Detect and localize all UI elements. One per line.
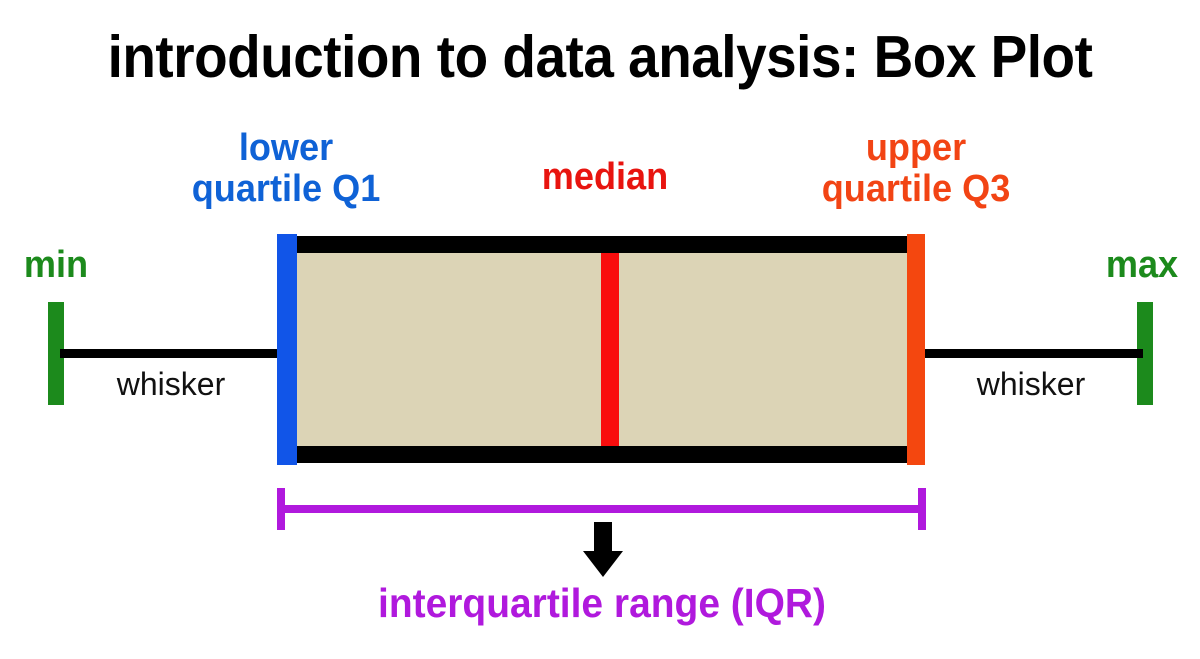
whisker-line-left bbox=[60, 349, 288, 358]
box bbox=[277, 236, 925, 463]
median-bar bbox=[601, 253, 619, 446]
page-title: introduction to data analysis: Box Plot bbox=[42, 26, 1158, 88]
arrow-shaft bbox=[594, 522, 612, 554]
label-whisker-right: whisker bbox=[946, 366, 1116, 402]
label-lower-quartile: lower quartile Q1 bbox=[138, 128, 434, 210]
label-max: max bbox=[1089, 245, 1195, 286]
iqr-bracket-cap-left bbox=[277, 488, 285, 530]
arrow-head bbox=[583, 551, 623, 577]
iqr-bracket-cap-right bbox=[918, 488, 926, 530]
iqr-bracket-line bbox=[277, 505, 926, 513]
label-upper-quartile: upper quartile Q3 bbox=[768, 128, 1064, 210]
label-iqr: interquartile range (IQR) bbox=[315, 583, 889, 624]
label-whisker-left: whisker bbox=[86, 366, 256, 402]
upper-quartile-edge bbox=[907, 234, 925, 465]
box-top-border bbox=[277, 236, 925, 253]
down-arrow-icon bbox=[583, 522, 623, 577]
whisker-line-right bbox=[915, 349, 1143, 358]
boxplot-diagram: introduction to data analysis: Box Plot … bbox=[0, 0, 1200, 659]
box-bottom-border bbox=[277, 446, 925, 463]
lower-quartile-edge bbox=[277, 234, 297, 465]
label-min: min bbox=[3, 245, 109, 286]
label-median: median bbox=[486, 157, 724, 198]
